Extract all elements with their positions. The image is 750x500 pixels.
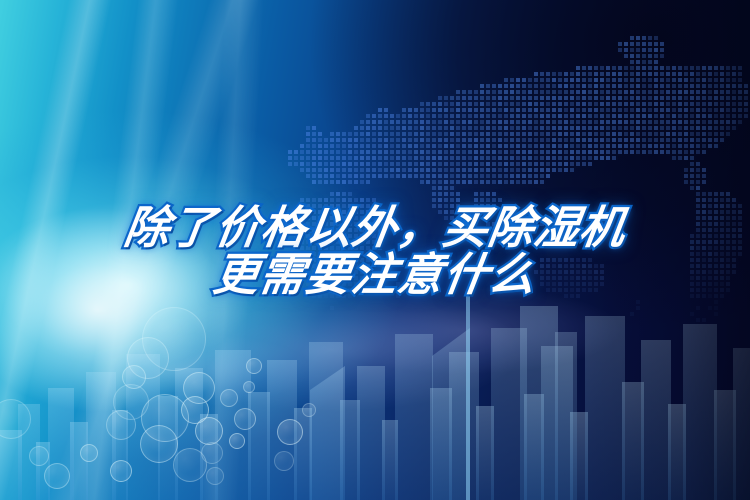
bubble <box>29 446 49 466</box>
bubble <box>206 467 224 485</box>
bubble <box>173 448 207 482</box>
banner-image: 除了价格以外，买除湿机 更需要注意什么 <box>0 0 750 500</box>
bubble <box>0 399 31 439</box>
headline-line-2: 更需要注意什么 <box>0 251 750 298</box>
bubble <box>80 444 98 462</box>
bubble <box>110 460 132 482</box>
bubble <box>140 425 178 463</box>
bubble <box>229 433 245 449</box>
bubble <box>220 389 238 407</box>
headline-line-1: 除了价格以外，买除湿机 <box>0 204 750 251</box>
bubble <box>243 381 255 393</box>
bubble <box>234 408 256 430</box>
bubble <box>277 419 303 445</box>
headline-block: 除了价格以外，买除湿机 更需要注意什么 <box>0 204 750 298</box>
bubble <box>274 451 294 471</box>
bubble <box>106 410 136 440</box>
bubble <box>302 403 316 417</box>
bubble <box>195 417 223 445</box>
bubble <box>44 463 70 489</box>
bubble <box>246 358 262 374</box>
